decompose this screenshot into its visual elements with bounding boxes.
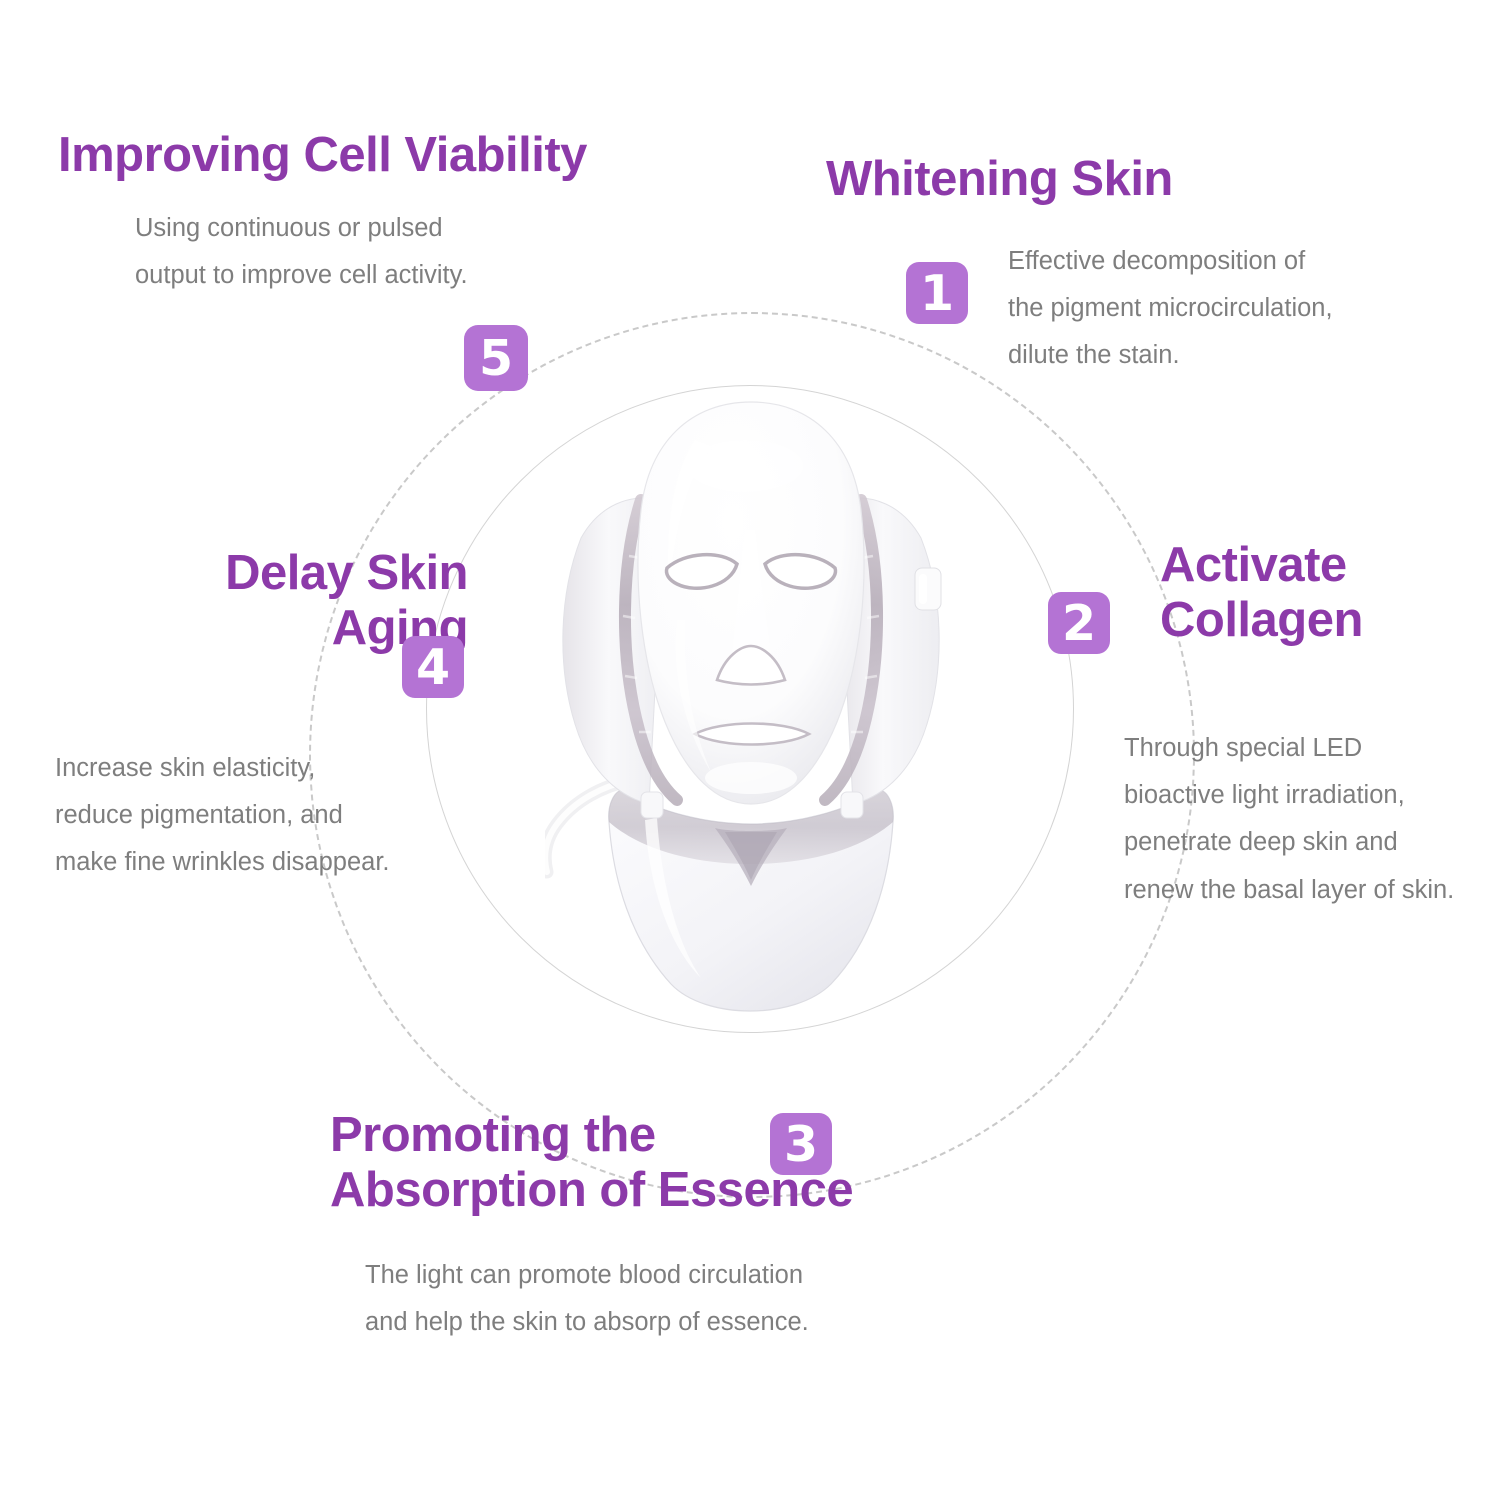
benefit-2-title: Activate Collagen bbox=[1160, 538, 1363, 648]
benefit-1-body: Effective decomposition of the pigment m… bbox=[1008, 238, 1333, 380]
benefit-3-number-badge: 3 bbox=[770, 1113, 832, 1175]
benefit-1-body-wrap: Effective decomposition of the pigment m… bbox=[1008, 238, 1333, 380]
benefit-3-body-wrap: The light can promote blood circulation … bbox=[365, 1252, 809, 1346]
benefit-2-number-badge: 2 bbox=[1048, 592, 1110, 654]
mouth-opening bbox=[695, 724, 809, 745]
benefit-5-title-wrap: Improving Cell Viability bbox=[58, 128, 587, 183]
benefit-4-number-badge: 4 bbox=[402, 636, 464, 698]
benefit-1-title: Whitening Skin bbox=[826, 152, 1173, 207]
benefit-2-body-wrap: Through special LED bioactive light irra… bbox=[1124, 725, 1454, 914]
benefit-4-body: Increase skin elasticity, reduce pigment… bbox=[55, 745, 390, 887]
benefit-1-number-badge: 1 bbox=[906, 262, 968, 324]
benefit-3-body: The light can promote blood circulation … bbox=[365, 1252, 809, 1346]
side-connector-tab bbox=[915, 568, 941, 610]
benefit-2-title-wrap: Activate Collagen bbox=[1160, 538, 1363, 648]
neck-shield bbox=[609, 790, 894, 1011]
benefit-1-title-wrap: Whitening Skin bbox=[826, 152, 1173, 207]
infographic-canvas: Improving Cell Viability Using continuou… bbox=[0, 0, 1500, 1500]
benefit-5-number-badge: 5 bbox=[464, 325, 528, 391]
led-mask-product-image bbox=[545, 380, 965, 1020]
mask-face-plate bbox=[638, 402, 864, 804]
benefit-5-title: Improving Cell Viability bbox=[58, 128, 587, 183]
benefit-5-body-wrap: Using continuous or pulsed output to imp… bbox=[135, 205, 468, 299]
benefit-2-body: Through special LED bioactive light irra… bbox=[1124, 725, 1454, 914]
benefit-4-body-wrap: Increase skin elasticity, reduce pigment… bbox=[55, 745, 390, 887]
benefit-5-body: Using continuous or pulsed output to imp… bbox=[135, 205, 468, 299]
